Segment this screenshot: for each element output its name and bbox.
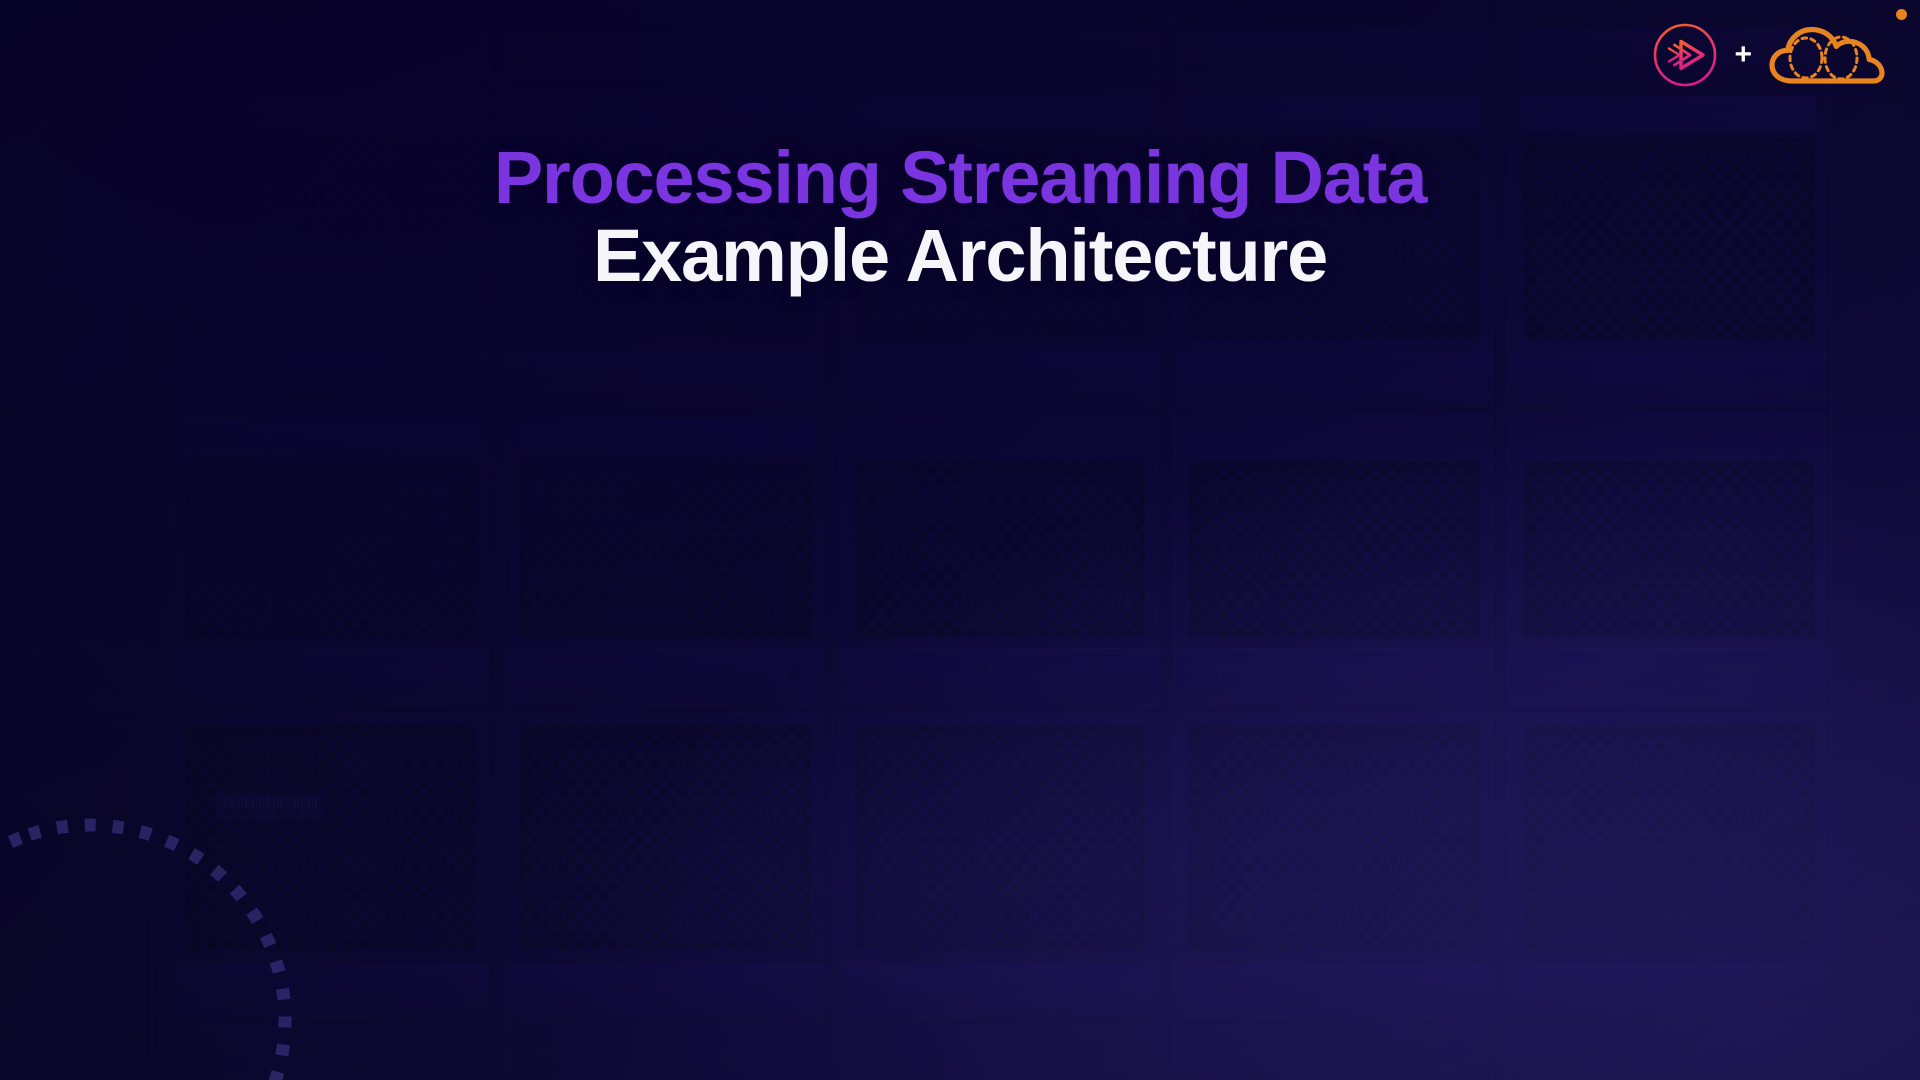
plus-separator: + [1734, 40, 1752, 70]
cloud-balloons-logo-icon [1768, 22, 1886, 88]
play-stream-logo-icon [1652, 22, 1718, 88]
slide-title-primary: Processing Streaming Data [60, 140, 1860, 216]
title-block: Processing Streaming Data Example Archit… [0, 140, 1920, 295]
slide-root: + Processing Streaming Data Example Arch… [0, 0, 1920, 1080]
logo-lockup: + [1652, 22, 1886, 88]
accent-dot [1896, 9, 1907, 20]
slide-title-secondary: Example Architecture [60, 218, 1860, 295]
